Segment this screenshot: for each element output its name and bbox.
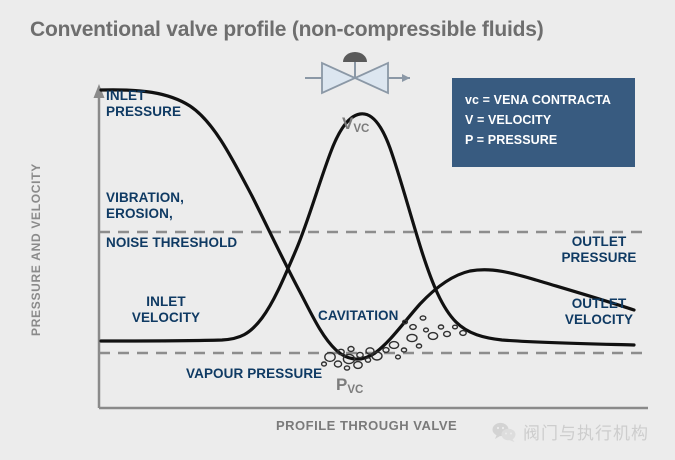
outlet-pressure-line1: OUTLET xyxy=(572,234,627,249)
watermark: 阀门与执行机构 xyxy=(492,419,649,444)
v-vc-symbol: V xyxy=(342,114,353,133)
x-axis-label: PROFILE THROUGH VALVE xyxy=(276,418,457,433)
vibration-line2: EROSION, xyxy=(106,206,173,221)
inlet-velocity-line2: VELOCITY xyxy=(132,310,200,325)
annotation-inlet-pressure: INLET PRESSURE xyxy=(106,88,181,120)
legend-line-p: P = PRESSURE xyxy=(465,130,635,150)
p-vc-symbol: P xyxy=(336,375,347,394)
outlet-velocity-line1: OUTLET xyxy=(572,296,627,311)
annotation-cavitation: CAVITATION xyxy=(318,308,399,324)
p-vc-subscript: VC xyxy=(347,384,363,396)
y-axis xyxy=(94,84,105,408)
y-axis-label: PRESSURE AND VELOCITY xyxy=(29,166,43,336)
v-vc-subscript: VC xyxy=(353,123,369,135)
watermark-text: 阀门与执行机构 xyxy=(523,419,649,444)
annotation-inlet-velocity: INLET VELOCITY xyxy=(106,294,226,326)
legend-line-vc: vc = VENA CONTRACTA xyxy=(465,90,635,110)
annotation-noise-threshold: NOISE THRESHOLD xyxy=(106,235,237,251)
legend-line-v: V = VELOCITY xyxy=(465,110,635,130)
vibration-line1: VIBRATION, xyxy=(106,190,184,205)
annotation-vapour-pressure: VAPOUR PRESSURE xyxy=(186,366,322,382)
inlet-pressure-line2: PRESSURE xyxy=(106,104,181,119)
annotation-v-vc: VVC xyxy=(342,114,369,134)
diagram-canvas: Conventional valve profile (non-compress… xyxy=(0,0,675,460)
outlet-velocity-line2: VELOCITY xyxy=(565,312,633,327)
annotation-p-vc: PVC xyxy=(336,375,363,395)
globe-valve-symbol xyxy=(305,52,410,93)
legend-box: vc = VENA CONTRACTA V = VELOCITY P = PRE… xyxy=(452,78,635,167)
inlet-pressure-line1: INLET xyxy=(106,88,146,103)
wechat-icon xyxy=(492,422,516,442)
cavitation-bubbles xyxy=(322,316,467,370)
annotation-vibration-erosion: VIBRATION, EROSION, xyxy=(106,190,184,222)
annotation-outlet-velocity: OUTLET VELOCITY xyxy=(544,296,654,328)
outlet-pressure-line2: PRESSURE xyxy=(561,250,636,265)
annotation-outlet-pressure: OUTLET PRESSURE xyxy=(544,234,654,266)
inlet-velocity-line1: INLET xyxy=(146,294,186,309)
